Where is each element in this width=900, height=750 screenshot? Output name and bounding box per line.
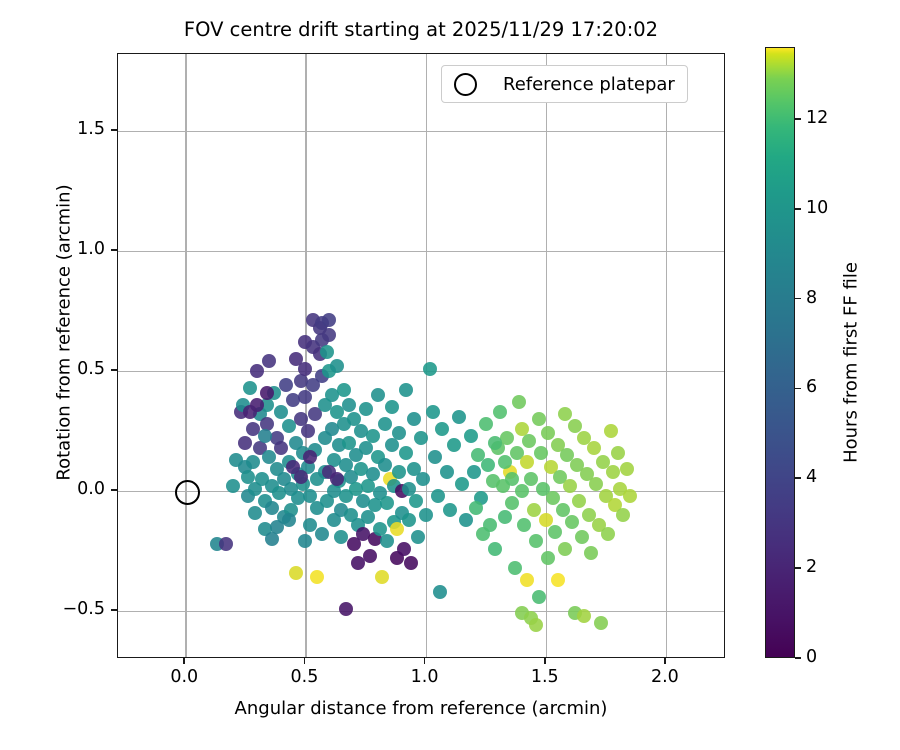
colorbar-label: Hours from first FF file [841, 83, 862, 643]
y-axis-label: Rotation from reference (arcmin) [54, 53, 75, 613]
scatter-point [289, 566, 303, 580]
scatter-point [469, 501, 483, 515]
gridline-vertical [426, 54, 427, 657]
scatter-point [322, 313, 336, 327]
scatter-point [274, 441, 288, 455]
scatter-point [404, 556, 418, 570]
x-axis-label: Angular distance from reference (arcmin) [117, 698, 725, 719]
scatter-point [524, 472, 538, 486]
scatter-point [452, 410, 466, 424]
scatter-point [243, 381, 257, 395]
scatter-point [248, 506, 262, 520]
gridline-vertical [666, 54, 667, 657]
scatter-point [505, 496, 519, 510]
scatter-point [534, 446, 548, 460]
scatter-point [623, 489, 637, 503]
scatter-point [385, 400, 399, 414]
scatter-point [330, 472, 344, 486]
scatter-point [541, 551, 555, 565]
scatter-point [455, 477, 469, 491]
scatter-point [294, 470, 308, 484]
y-tick [111, 369, 117, 371]
scatter-point [298, 390, 312, 404]
scatter-point [589, 477, 603, 491]
scatter-point [339, 602, 353, 616]
scatter-point [315, 527, 329, 541]
scatter-point [402, 513, 416, 527]
scatter-point [532, 590, 546, 604]
scatter-point [464, 429, 478, 443]
scatter-point [380, 496, 394, 510]
plot-area [117, 53, 725, 658]
scatter-point [390, 522, 404, 536]
scatter-point [520, 455, 534, 469]
scatter-point [303, 450, 317, 464]
scatter-point [359, 441, 373, 455]
scatter-point [558, 407, 572, 421]
colorbar-tick-label: 6 [806, 377, 817, 397]
scatter-point [517, 518, 531, 532]
scatter-point [363, 549, 377, 563]
scatter-point [399, 446, 413, 460]
y-tick [111, 129, 117, 131]
gridline-vertical [546, 54, 547, 657]
scatter-point [337, 383, 351, 397]
scatter-point [428, 450, 442, 464]
x-tick-label: 0.5 [269, 667, 339, 687]
scatter-point [529, 618, 543, 632]
scatter-point [527, 503, 541, 517]
scatter-point [529, 534, 543, 548]
x-tick-label: 0.0 [149, 667, 219, 687]
scatter-point [532, 412, 546, 426]
scatter-point [378, 458, 392, 472]
gridline-vertical [305, 54, 306, 657]
colorbar-tick-label: 4 [806, 467, 817, 487]
x-tick-label: 1.5 [510, 667, 580, 687]
scatter-point [378, 417, 392, 431]
scatter-point [419, 508, 433, 522]
y-tick [111, 489, 117, 491]
scatter-point [433, 585, 447, 599]
scatter-point [500, 431, 514, 445]
scatter-point [620, 462, 634, 476]
colorbar-tick [795, 477, 801, 479]
scatter-point [572, 494, 586, 508]
scatter-point [385, 438, 399, 452]
scatter-point [512, 395, 526, 409]
scatter-point [575, 530, 589, 544]
colorbar-tick [795, 208, 801, 210]
scatter-point [548, 525, 562, 539]
scatter-point [397, 542, 411, 556]
x-tick [664, 658, 666, 664]
x-tick [183, 658, 185, 664]
scatter-point [366, 467, 380, 481]
figure-canvas: FOV centre drift starting at 2025/11/29 … [0, 0, 900, 750]
scatter-point [426, 405, 440, 419]
scatter-point [375, 570, 389, 584]
scatter-point [587, 441, 601, 455]
x-tick [304, 658, 306, 664]
scatter-point [584, 546, 598, 560]
scatter-point [322, 328, 336, 342]
scatter-point [435, 422, 449, 436]
scatter-point [366, 429, 380, 443]
gridline-horizontal [118, 611, 724, 612]
scatter-point [409, 494, 423, 508]
scatter-point [359, 402, 373, 416]
scatter-point [258, 429, 272, 443]
scatter-point [274, 405, 288, 419]
scatter-point [431, 489, 445, 503]
colorbar-tick [795, 567, 801, 569]
colorbar-tick [795, 298, 801, 300]
scatter-point [611, 446, 625, 460]
scatter-point [310, 570, 324, 584]
colorbar-tick-label: 10 [806, 198, 828, 218]
scatter-point [279, 378, 293, 392]
scatter-point [250, 364, 264, 378]
scatter-point [330, 359, 344, 373]
page-title: FOV centre drift starting at 2025/11/29 … [117, 18, 725, 41]
scatter-point [616, 508, 630, 522]
x-tick-label: 1.0 [390, 667, 460, 687]
scatter-point [515, 484, 529, 498]
legend: Reference platepar [441, 65, 688, 103]
scatter-point [447, 438, 461, 452]
scatter-point [522, 434, 536, 448]
scatter-point [282, 513, 296, 527]
scatter-point [342, 398, 356, 412]
scatter-point [606, 465, 620, 479]
scatter-point [508, 561, 522, 575]
colorbar-tick-label: 0 [806, 647, 817, 667]
legend-item-label: Reference platepar [503, 74, 675, 95]
scatter-point [488, 542, 502, 556]
colorbar-tick [795, 657, 801, 659]
scatter-point [520, 573, 534, 587]
scatter-point [407, 412, 421, 426]
y-tick [111, 609, 117, 611]
scatter-point [604, 424, 618, 438]
scatter-point [392, 465, 406, 479]
scatter-point [493, 405, 507, 419]
scatter-point [219, 537, 233, 551]
scatter-point [298, 534, 312, 548]
colorbar-tick-label: 2 [806, 557, 817, 577]
scatter-point [594, 616, 608, 630]
colorbar-tick-label: 8 [806, 288, 817, 308]
legend-open-circle-icon [454, 73, 477, 96]
scatter-point [371, 388, 385, 402]
gridline-vertical [185, 54, 186, 657]
x-tick [424, 658, 426, 664]
scatter-point [243, 405, 257, 419]
colorbar-tick-label: 12 [806, 108, 828, 128]
scatter-point [498, 455, 512, 469]
scatter-point [476, 527, 490, 541]
scatter-point [558, 542, 572, 556]
x-tick-label: 2.0 [630, 667, 700, 687]
colorbar-tick [795, 118, 801, 120]
gridline-horizontal [118, 131, 724, 132]
scatter-point [481, 458, 495, 472]
scatter-point [443, 503, 457, 517]
reference-platepar-marker [175, 480, 200, 505]
scatter-point [546, 491, 560, 505]
scatter-point [380, 534, 394, 548]
x-tick [544, 658, 546, 664]
scatter-point [246, 455, 260, 469]
scatter-point [298, 362, 312, 376]
scatter-point [563, 479, 577, 493]
scatter-point [498, 510, 512, 524]
scatter-point [440, 465, 454, 479]
scatter-point [361, 510, 375, 524]
scatter-point [392, 426, 406, 440]
scatter-point [459, 513, 473, 527]
gridline-horizontal [118, 371, 724, 372]
scatter-point [541, 426, 555, 440]
colorbar-tick [795, 388, 801, 390]
scatter-point [265, 501, 279, 515]
scatter-point [479, 417, 493, 431]
scatter-point [414, 431, 428, 445]
scatter-point [505, 472, 519, 486]
scatter-point [539, 513, 553, 527]
scatter-point [320, 345, 334, 359]
scatter-point [565, 515, 579, 529]
gridline-horizontal [118, 251, 724, 252]
scatter-point [260, 386, 274, 400]
scatter-point [301, 424, 315, 438]
scatter-point [577, 609, 591, 623]
colorbar [765, 47, 795, 658]
scatter-point [238, 436, 252, 450]
scatter-point [411, 530, 425, 544]
scatter-point [399, 383, 413, 397]
scatter-point [551, 573, 565, 587]
scatter-point [601, 527, 615, 541]
scatter-point [262, 354, 276, 368]
scatter-point [423, 362, 437, 376]
scatter-point [265, 532, 279, 546]
scatter-point [416, 472, 430, 486]
scatter-point [467, 465, 481, 479]
y-tick [111, 249, 117, 251]
